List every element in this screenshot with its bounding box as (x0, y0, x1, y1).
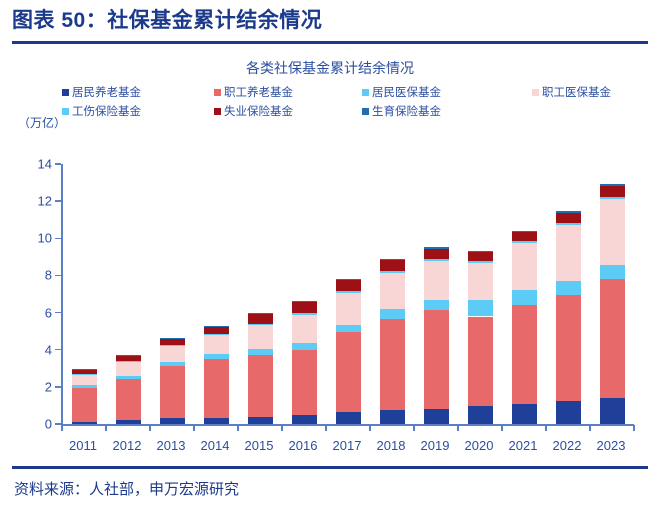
page-title: 图表 50：社保基金累计结余情况 (12, 4, 322, 34)
bar-segment (72, 374, 97, 384)
bar-segment (512, 231, 537, 233)
chart-container: 各类社保基金累计结余情况 居民养老基金职工养老基金居民医保基金职工医保基金工伤保… (0, 48, 660, 460)
bar-segment (336, 325, 361, 332)
legend-swatch-icon (214, 108, 221, 115)
bar-stack-2011[interactable] (72, 164, 97, 424)
bar-segment (204, 335, 229, 354)
legend-item-4[interactable]: 工伤保险基金 (62, 103, 141, 119)
bar-segment (204, 327, 229, 334)
bar-stack-2012[interactable] (116, 164, 141, 424)
bar-segment (248, 355, 273, 416)
x-axis-line (61, 424, 634, 426)
bar-segment (512, 305, 537, 403)
bar-segment (380, 309, 405, 319)
x-axis-tick-mark (105, 425, 107, 431)
bar-segment (72, 385, 97, 388)
bar-segment (72, 369, 97, 370)
bar-stack-2015[interactable] (248, 164, 273, 424)
y-axis-tick-mark (55, 349, 61, 351)
legend-label: 职工养老基金 (224, 84, 293, 100)
bar-segment (600, 199, 625, 265)
bar-segment (380, 271, 405, 273)
bar-segment (292, 415, 317, 424)
bar-segment (248, 314, 273, 324)
bar-segment (600, 197, 625, 199)
bar-stack-2020[interactable] (468, 164, 493, 424)
bar-segment (160, 338, 185, 339)
bar-segment (556, 401, 581, 424)
bar-segment (468, 317, 493, 407)
x-axis-tick-mark (149, 425, 151, 431)
x-axis-tick-mark (501, 425, 503, 431)
bar-segment (116, 355, 141, 356)
legend-label: 工伤保险基金 (72, 103, 141, 119)
bar-stack-2018[interactable] (380, 164, 405, 424)
bar-segment (380, 260, 405, 271)
x-axis-tick-mark (413, 425, 415, 431)
bar-segment (204, 334, 229, 335)
bar-segment (424, 300, 449, 310)
bar-segment (72, 422, 97, 424)
bar-segment (424, 261, 449, 300)
bar-segment (160, 345, 185, 346)
legend-swatch-icon (62, 89, 69, 96)
bar-segment (336, 332, 361, 413)
bar-segment (160, 346, 185, 362)
bar-segment (292, 301, 317, 302)
bar-segment (292, 302, 317, 313)
bar-segment (336, 279, 361, 280)
bar-segment (556, 213, 581, 223)
bar-segment (336, 293, 361, 325)
x-axis-tick-label: 2012 (102, 438, 152, 453)
bar-segment (336, 280, 361, 291)
bar-segment (468, 263, 493, 301)
y-axis-tick-mark (55, 238, 61, 240)
y-axis-tick-label: 6 (26, 305, 52, 320)
bar-segment (72, 369, 97, 373)
bar-segment (468, 406, 493, 424)
y-axis-tick-label: 14 (26, 157, 52, 172)
bar-segment (116, 362, 141, 376)
x-axis-tick-mark (589, 425, 591, 431)
legend-row: 居民养老基金职工养老基金居民医保基金职工医保基金 (62, 84, 652, 102)
bar-segment (248, 417, 273, 424)
x-axis-tick-mark (369, 425, 371, 431)
bar-segment (248, 325, 273, 349)
bar-stack-2019[interactable] (424, 164, 449, 424)
bar-segment (248, 349, 273, 355)
legend-swatch-icon (214, 89, 221, 96)
x-axis-tick-mark (61, 425, 63, 431)
y-axis-tick-mark (55, 386, 61, 388)
bar-segment (512, 232, 537, 241)
legend-label: 居民医保基金 (372, 84, 441, 100)
bar-segment (380, 319, 405, 411)
x-axis-tick-label: 2022 (542, 438, 592, 453)
bar-segment (424, 259, 449, 261)
x-axis-tick-label: 2019 (410, 438, 460, 453)
legend-label: 生育保险基金 (372, 103, 441, 119)
legend-row: 工伤保险基金失业保险基金生育保险基金 (62, 103, 652, 121)
legend-label: 职工医保基金 (542, 84, 611, 100)
x-axis-tick-label: 2013 (146, 438, 196, 453)
bar-segment (160, 339, 185, 346)
bar-segment (600, 184, 625, 186)
bar-segment (160, 362, 185, 366)
y-axis-tick-label: 8 (26, 268, 52, 283)
x-axis-tick-mark (237, 425, 239, 431)
bar-segment (424, 249, 449, 259)
bar-segment (468, 300, 493, 316)
bar-segment (248, 324, 273, 325)
bar-segment (116, 376, 141, 380)
y-axis-tick-mark (55, 275, 61, 277)
bar-segment (116, 420, 141, 424)
report-header: 图表 50：社保基金累计结余情况 (0, 0, 660, 48)
bar-segment (600, 265, 625, 279)
legend-item-2[interactable]: 居民医保基金 (362, 84, 441, 100)
y-axis-unit-label: （万亿） (18, 114, 66, 131)
bar-segment (336, 412, 361, 424)
bar-segment (204, 354, 229, 359)
bar-segment (72, 388, 97, 422)
y-axis-tick-label: 10 (26, 231, 52, 246)
bar-segment (116, 356, 141, 362)
x-axis-tick-label: 2014 (190, 438, 240, 453)
x-axis-tick-label: 2015 (234, 438, 284, 453)
bar-segment (468, 261, 493, 263)
y-axis-tick-mark (55, 200, 61, 202)
bar-segment (380, 273, 405, 309)
bar-segment (204, 418, 229, 425)
chart-legend: 居民养老基金职工养老基金居民医保基金职工医保基金工伤保险基金失业保险基金生育保险… (62, 84, 652, 124)
header-divider (12, 41, 648, 44)
bar-segment (512, 404, 537, 424)
bar-segment (116, 361, 141, 362)
bar-stack-2021[interactable] (512, 164, 537, 424)
bar-segment (512, 241, 537, 243)
y-axis-tick-mark (55, 312, 61, 314)
bar-segment (116, 379, 141, 419)
y-axis-tick-label: 4 (26, 342, 52, 357)
bar-segment (72, 374, 97, 375)
x-axis-tick-label: 2016 (278, 438, 328, 453)
plot-area (62, 164, 634, 424)
bar-stack-2022[interactable] (556, 164, 581, 424)
bar-segment (380, 259, 405, 261)
legend-item-0[interactable]: 居民养老基金 (62, 84, 141, 100)
x-axis-tick-mark (325, 425, 327, 431)
bar-segment (292, 343, 317, 350)
footer-divider (12, 466, 648, 469)
x-axis-tick-mark (281, 425, 283, 431)
bar-segment (292, 313, 317, 315)
bar-segment (424, 247, 449, 249)
legend-item-5[interactable]: 失业保险基金 (214, 103, 293, 119)
x-axis-tick-mark (545, 425, 547, 431)
y-axis-tick-mark (55, 163, 61, 165)
x-axis-tick-mark (457, 425, 459, 431)
bar-segment (600, 279, 625, 398)
x-axis-tick-label: 2018 (366, 438, 416, 453)
y-axis-tick-label: 0 (26, 417, 52, 432)
x-axis-tick-mark (633, 425, 635, 431)
bar-segment (556, 211, 581, 213)
bar-stack-2016[interactable] (292, 164, 317, 424)
bar-segment (600, 398, 625, 424)
bar-stack-2014[interactable] (204, 164, 229, 424)
legend-swatch-icon (362, 108, 369, 115)
legend-label: 失业保险基金 (224, 103, 293, 119)
y-axis-tick-label: 12 (26, 194, 52, 209)
bar-segment (512, 290, 537, 305)
x-axis-tick-label: 2020 (454, 438, 504, 453)
legend-swatch-icon (362, 89, 369, 96)
bar-segment (556, 295, 581, 401)
bar-segment (424, 310, 449, 408)
bar-segment (556, 225, 581, 281)
legend-item-1[interactable]: 职工养老基金 (214, 84, 293, 100)
bar-segment (336, 291, 361, 293)
bar-segment (600, 186, 625, 197)
bar-segment (160, 418, 185, 424)
bar-segment (292, 315, 317, 343)
chart-title: 各类社保基金累计结余情况 (0, 58, 660, 78)
bar-segment (468, 252, 493, 260)
bar-segment (204, 326, 229, 327)
x-axis-tick-mark (193, 425, 195, 431)
bar-segment (380, 410, 405, 424)
bar-segment (556, 223, 581, 225)
bar-segment (468, 251, 493, 252)
bar-segment (160, 366, 185, 418)
bar-stack-2017[interactable] (336, 164, 361, 424)
x-axis-tick-label: 2021 (498, 438, 548, 453)
bar-segment (556, 281, 581, 295)
legend-item-3[interactable]: 职工医保基金 (532, 84, 611, 100)
y-axis-tick-label: 2 (26, 379, 52, 394)
legend-swatch-icon (532, 89, 539, 96)
bar-segment (424, 409, 449, 424)
x-axis-tick-label: 2023 (586, 438, 636, 453)
bar-segment (204, 359, 229, 417)
legend-item-6[interactable]: 生育保险基金 (362, 103, 441, 119)
legend-label: 居民养老基金 (72, 84, 141, 100)
x-axis-tick-label: 2017 (322, 438, 372, 453)
bar-stack-2013[interactable] (160, 164, 185, 424)
bar-segment (248, 313, 273, 314)
bar-segment (512, 243, 537, 289)
bar-stack-2023[interactable] (600, 164, 625, 424)
bar-segment (292, 350, 317, 415)
source-note: 资料来源：人社部，申万宏源研究 (14, 478, 239, 499)
x-axis-tick-label: 2011 (58, 438, 108, 453)
